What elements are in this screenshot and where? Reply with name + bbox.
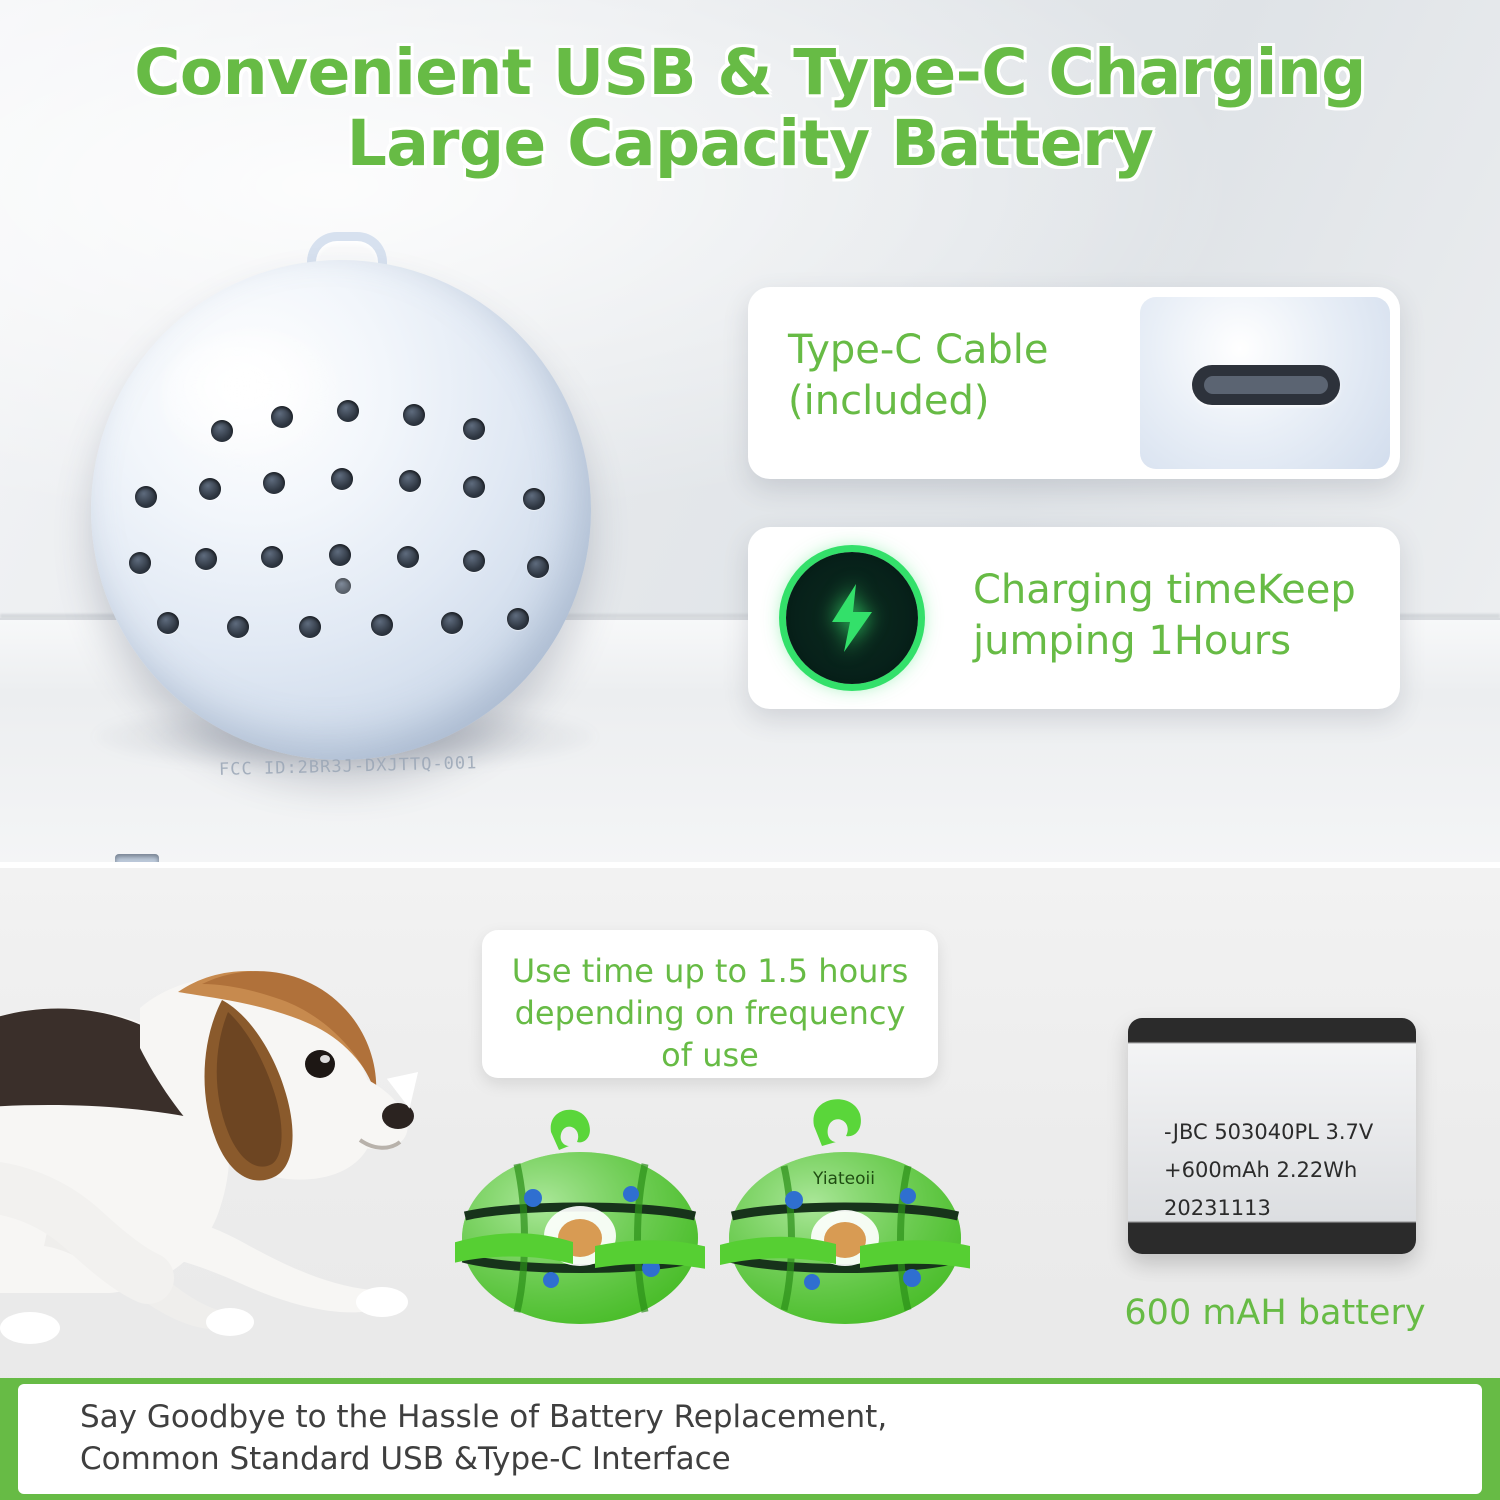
- footer-text: Say Goodbye to the Hassle of Battery Rep…: [18, 1397, 887, 1480]
- device-ball: FCC ID:2BR3J-DXJTTQ-001: [85, 232, 605, 762]
- charging-line-1: Charging timeKeep: [973, 565, 1383, 616]
- speech-bubble-text: Use time up to 1.5 hours depending on fr…: [502, 950, 918, 1077]
- battery-label-line-2: +600mAh 2.22Wh 20231113: [1164, 1152, 1404, 1228]
- lightning-bolt-icon: [786, 552, 918, 684]
- type-c-line-1: Type-C Cable: [788, 325, 1188, 376]
- callout-card-charging-time: Charging timeKeep jumping 1Hours: [748, 527, 1400, 709]
- bubble-line-3: of use: [502, 1034, 918, 1076]
- bubble-line-1: Use time up to 1.5 hours: [502, 950, 918, 992]
- battery-label-line-1: -JBC 503040PL 3.7V: [1164, 1114, 1404, 1152]
- type-c-line-2: (included): [788, 376, 1188, 427]
- footer-line-1: Say Goodbye to the Hassle of Battery Rep…: [80, 1397, 887, 1439]
- footer-line-2: Common Standard USB &Type-C Interface: [80, 1439, 887, 1481]
- toy-ball-left: [455, 1098, 705, 1328]
- toy-ball-right: Yiateoii: [720, 1088, 970, 1328]
- bubble-line-2: depending on frequency: [502, 992, 918, 1034]
- speech-bubble: Use time up to 1.5 hours depending on fr…: [482, 930, 938, 1078]
- battery-label-text: -JBC 503040PL 3.7V +600mAh 2.22Wh 202311…: [1164, 1114, 1404, 1227]
- charging-card-text: Charging timeKeep jumping 1Hours: [973, 565, 1383, 667]
- battery-photo: -JBC 503040PL 3.7V +600mAh 2.22Wh 202311…: [1128, 1018, 1416, 1254]
- headline-line-1: Convenient USB & Type-C Charging: [134, 36, 1366, 109]
- toy-brand-label: Yiateoii: [812, 1169, 875, 1189]
- type-c-card-text: Type-C Cable (included): [788, 325, 1188, 427]
- usb-port: [115, 854, 159, 862]
- ball-highlight: [161, 330, 351, 470]
- bolt-glyph: [826, 582, 878, 654]
- battery-caption: 600 mAH battery: [1080, 1293, 1470, 1333]
- ball-body: FCC ID:2BR3J-DXJTTQ-001: [91, 260, 591, 760]
- page-title: Convenient USB & Type-C Charging Large C…: [0, 38, 1500, 179]
- callout-card-type-c: Type-C Cable (included): [748, 287, 1400, 479]
- charging-line-2: jumping 1Hours: [973, 616, 1383, 667]
- type-c-port-closeup: [1140, 297, 1390, 469]
- product-infographic: FCC ID:2BR3J-DXJTTQ-001 Type-C Cable (in…: [0, 0, 1500, 1500]
- footer-bar: Say Goodbye to the Hassle of Battery Rep…: [0, 1378, 1500, 1500]
- type-c-port-icon: [1192, 365, 1340, 405]
- headline-line-2: Large Capacity Battery: [0, 109, 1500, 180]
- beagle-dog-photo: [0, 888, 460, 1358]
- footer-inner: Say Goodbye to the Hassle of Battery Rep…: [18, 1384, 1482, 1494]
- speech-bubble-tail: [387, 1072, 425, 1112]
